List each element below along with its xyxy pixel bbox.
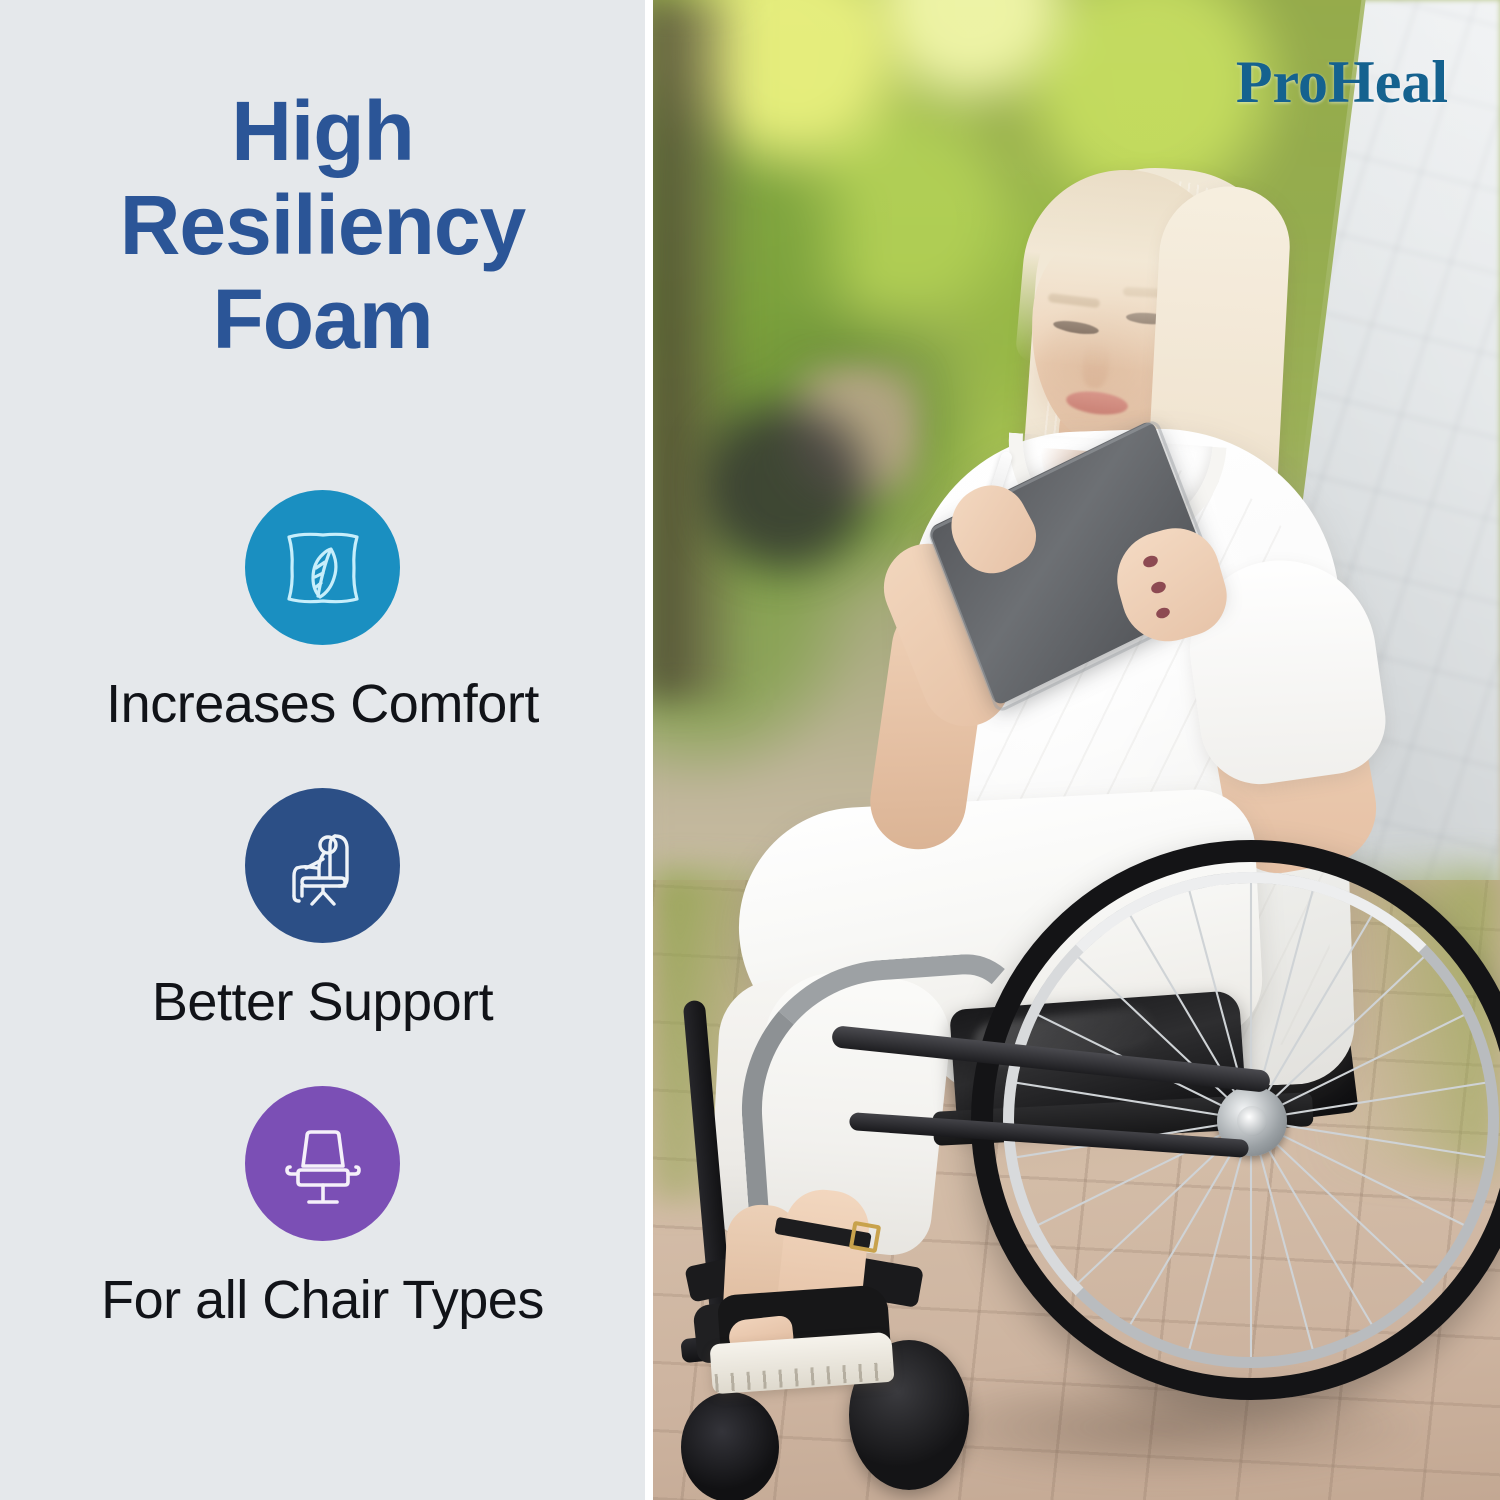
- feature-item-for-all-chair-types: For all Chair Types: [0, 1086, 645, 1327]
- proheal-logo: ProHeal: [1236, 52, 1448, 112]
- feature-item-better-support: Better Support: [0, 788, 645, 1029]
- feature-item-increases-comfort: Increases Comfort: [0, 490, 645, 731]
- office-chair-icon: [245, 1086, 400, 1241]
- feature-label-for-all-chair-types: For all Chair Types: [101, 1273, 544, 1327]
- product-infographic: High Resiliency Foam Increases Comfort: [0, 0, 1500, 1500]
- feature-label-increases-comfort: Increases Comfort: [106, 677, 539, 731]
- panel-divider: [645, 0, 653, 1500]
- caster-wheel-rear: [681, 1392, 779, 1500]
- wheel-hub-core: [1237, 1106, 1267, 1136]
- sandal-buckle: [849, 1221, 881, 1253]
- product-lifestyle-photo: ProHeal: [653, 0, 1500, 1500]
- feature-list: Increases Comfort: [0, 490, 645, 1384]
- page-title: High Resiliency Foam: [40, 84, 605, 366]
- person-seated-in-chair-icon: [245, 788, 400, 943]
- feature-label-better-support: Better Support: [152, 975, 493, 1029]
- pillow-feather-icon: [245, 490, 400, 645]
- left-content-panel: High Resiliency Foam Increases Comfort: [0, 0, 645, 1500]
